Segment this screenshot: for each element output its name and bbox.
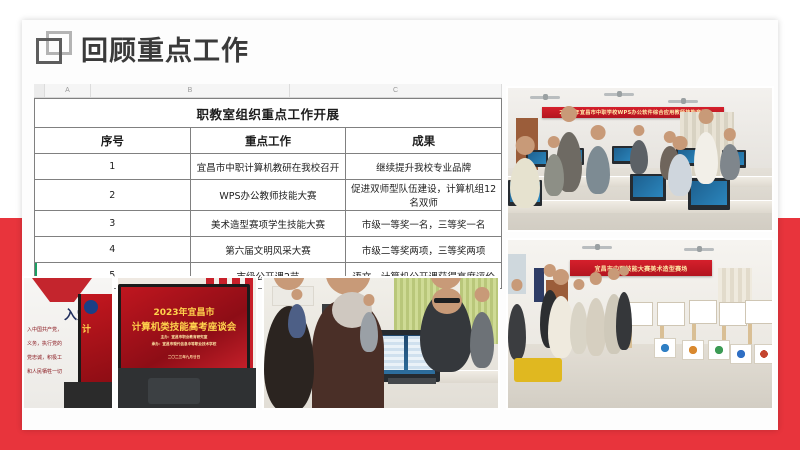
header-cell-work[interactable]: 重点工作	[190, 128, 346, 154]
table-header-row: 序号 重点工作 成果	[35, 128, 502, 154]
oath-line-1: 入中国共产党，	[27, 326, 62, 333]
table-row[interactable]: 4 第六届文明风采大赛 市级二等奖两项，三等奖两项	[35, 237, 502, 263]
table-row[interactable]: 1 宜昌市中职计算机教研在我校召开 继续提升我校专业品牌	[35, 154, 502, 180]
header-cell-result[interactable]: 成果	[346, 128, 502, 154]
cell-no-4[interactable]: 4	[35, 237, 191, 263]
cell-work-4[interactable]: 第六届文明风采大赛	[190, 237, 346, 263]
cell-result-2[interactable]: 促进双师型队伍建设，计算机组12名双师	[346, 180, 502, 211]
seminar-screen-line-2: 计算机类技能高考座谈会	[121, 319, 247, 333]
cell-work-2[interactable]: WPS办公教师技能大赛	[190, 180, 346, 211]
cell-work-3[interactable]: 美术造型赛项学生技能大赛	[190, 211, 346, 237]
seminar-screen-line-1: 2023年宜昌市	[121, 305, 247, 318]
slide-canvas: 回顾重点工作 A B C 职教室组织重点工作开展 序号 重点工作 成果 1 宜昌…	[0, 0, 800, 450]
cell-no-3[interactable]: 3	[35, 211, 191, 237]
cell-result-3[interactable]: 市级一等奖一名，三等奖一名	[346, 211, 502, 237]
cell-work-1[interactable]: 宜昌市中职计算机教研在我校召开	[190, 154, 346, 180]
computer-classroom-photo	[262, 276, 500, 410]
table-row[interactable]: 3 美术造型赛项学生技能大赛 市级一等奖一名，三等奖一名	[35, 211, 502, 237]
party-oath-wall-photo: 入党 入中国共产党， 义务，执行党的 党忠诚，积极工 和人民牺牲一切 计	[22, 276, 114, 410]
art-competition-venue-photo: 宜昌市中职技能大赛美术造型赛场	[506, 238, 774, 410]
cell-result-4[interactable]: 市级二等奖两项，三等奖两项	[346, 237, 502, 263]
column-header-row: A B C	[34, 84, 502, 98]
spreadsheet[interactable]: A B C 职教室组织重点工作开展 序号 重点工作 成果 1 宜昌市中职计算机教…	[34, 84, 502, 289]
seminar-screen-line-3: 主办：宜昌市职业教育研究室	[121, 335, 247, 340]
table-row[interactable]: 2 WPS办公教师技能大赛 促进双师型队伍建设，计算机组12名双师	[35, 180, 502, 211]
wps-teacher-contest-photo: 2023年宜昌市中职学校WPS办公软件综合应用教师技能竞赛	[506, 86, 774, 232]
oath-line-2: 义务，执行党的	[27, 340, 62, 347]
oath-line-3: 党忠诚，积极工	[27, 354, 62, 361]
seminar-screen-line-4: 承办：宜昌市现代信息中等职业技术学校	[121, 342, 247, 347]
select-all-corner[interactable]	[34, 84, 45, 97]
cell-no-1[interactable]: 1	[35, 154, 191, 180]
column-header-a[interactable]: A	[45, 84, 91, 97]
work-summary-table[interactable]: 职教室组织重点工作开展 序号 重点工作 成果 1 宜昌市中职计算机教研在我校召开…	[34, 98, 502, 289]
table-title-row: 职教室组织重点工作开展	[35, 99, 502, 128]
overlapping-squares-icon	[36, 31, 72, 65]
seminar-screen-line-5: 二〇二三年九月廿日	[121, 355, 247, 360]
table-title-cell[interactable]: 职教室组织重点工作开展	[35, 99, 502, 128]
page-title-text: 回顾重点工作	[81, 29, 249, 68]
cell-result-1[interactable]: 继续提升我校专业品牌	[346, 154, 502, 180]
cell-no-2[interactable]: 2	[35, 180, 191, 211]
page-title: 回顾重点工作	[36, 24, 249, 72]
oath-line-4: 和人民牺牲一切	[27, 368, 62, 375]
header-cell-no[interactable]: 序号	[35, 128, 191, 154]
column-header-c[interactable]: C	[290, 84, 502, 97]
column-header-b[interactable]: B	[91, 84, 290, 97]
gaokao-seminar-photo: 2023年宜昌市 计算机类技能高考座谈会 主办：宜昌市职业教育研究室 承办：宜昌…	[116, 276, 258, 410]
